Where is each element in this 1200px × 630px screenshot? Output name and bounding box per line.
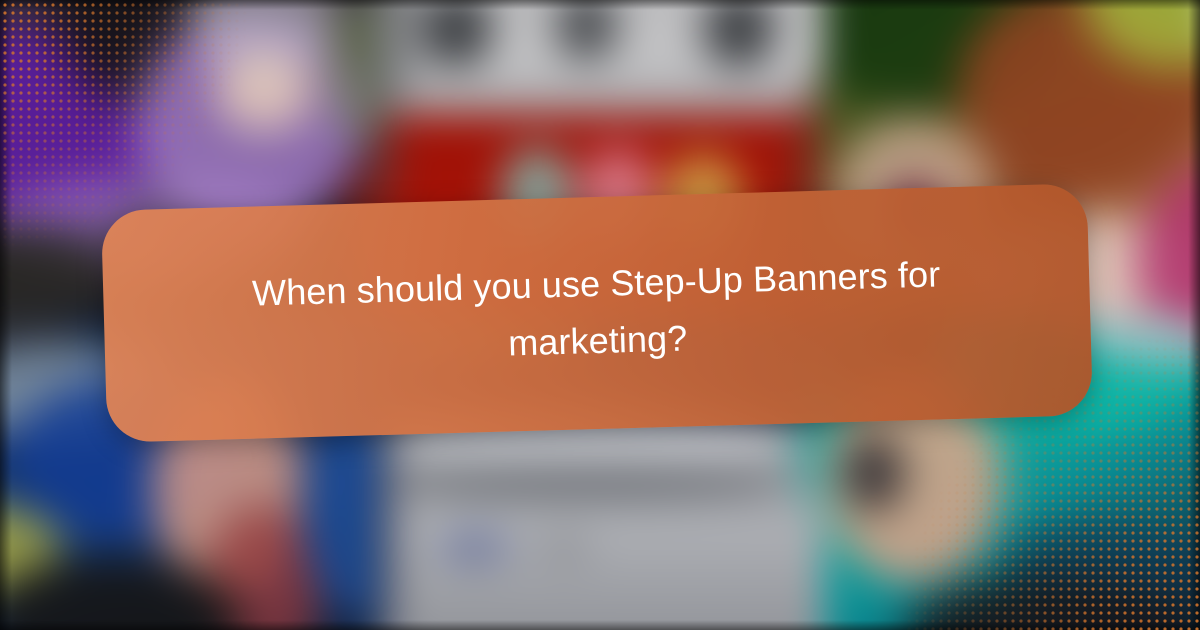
collage-blob xyxy=(439,534,511,562)
collage-blob xyxy=(555,0,618,61)
question-card: When should you use Step-Up Banners for … xyxy=(101,183,1093,442)
question-headline: When should you use Step-Up Banners for … xyxy=(226,246,969,380)
collage-blob xyxy=(215,54,314,132)
collage-blob xyxy=(376,0,421,110)
collage-blob xyxy=(842,435,905,513)
collage-blob xyxy=(421,0,493,68)
question-card-content: When should you use Step-Up Banners for … xyxy=(101,183,1093,442)
collage-blob xyxy=(394,463,788,498)
social-share-card: When should you use Step-Up Banners for … xyxy=(0,0,1200,630)
collage-blob xyxy=(703,0,775,68)
collage-blob xyxy=(537,534,591,562)
